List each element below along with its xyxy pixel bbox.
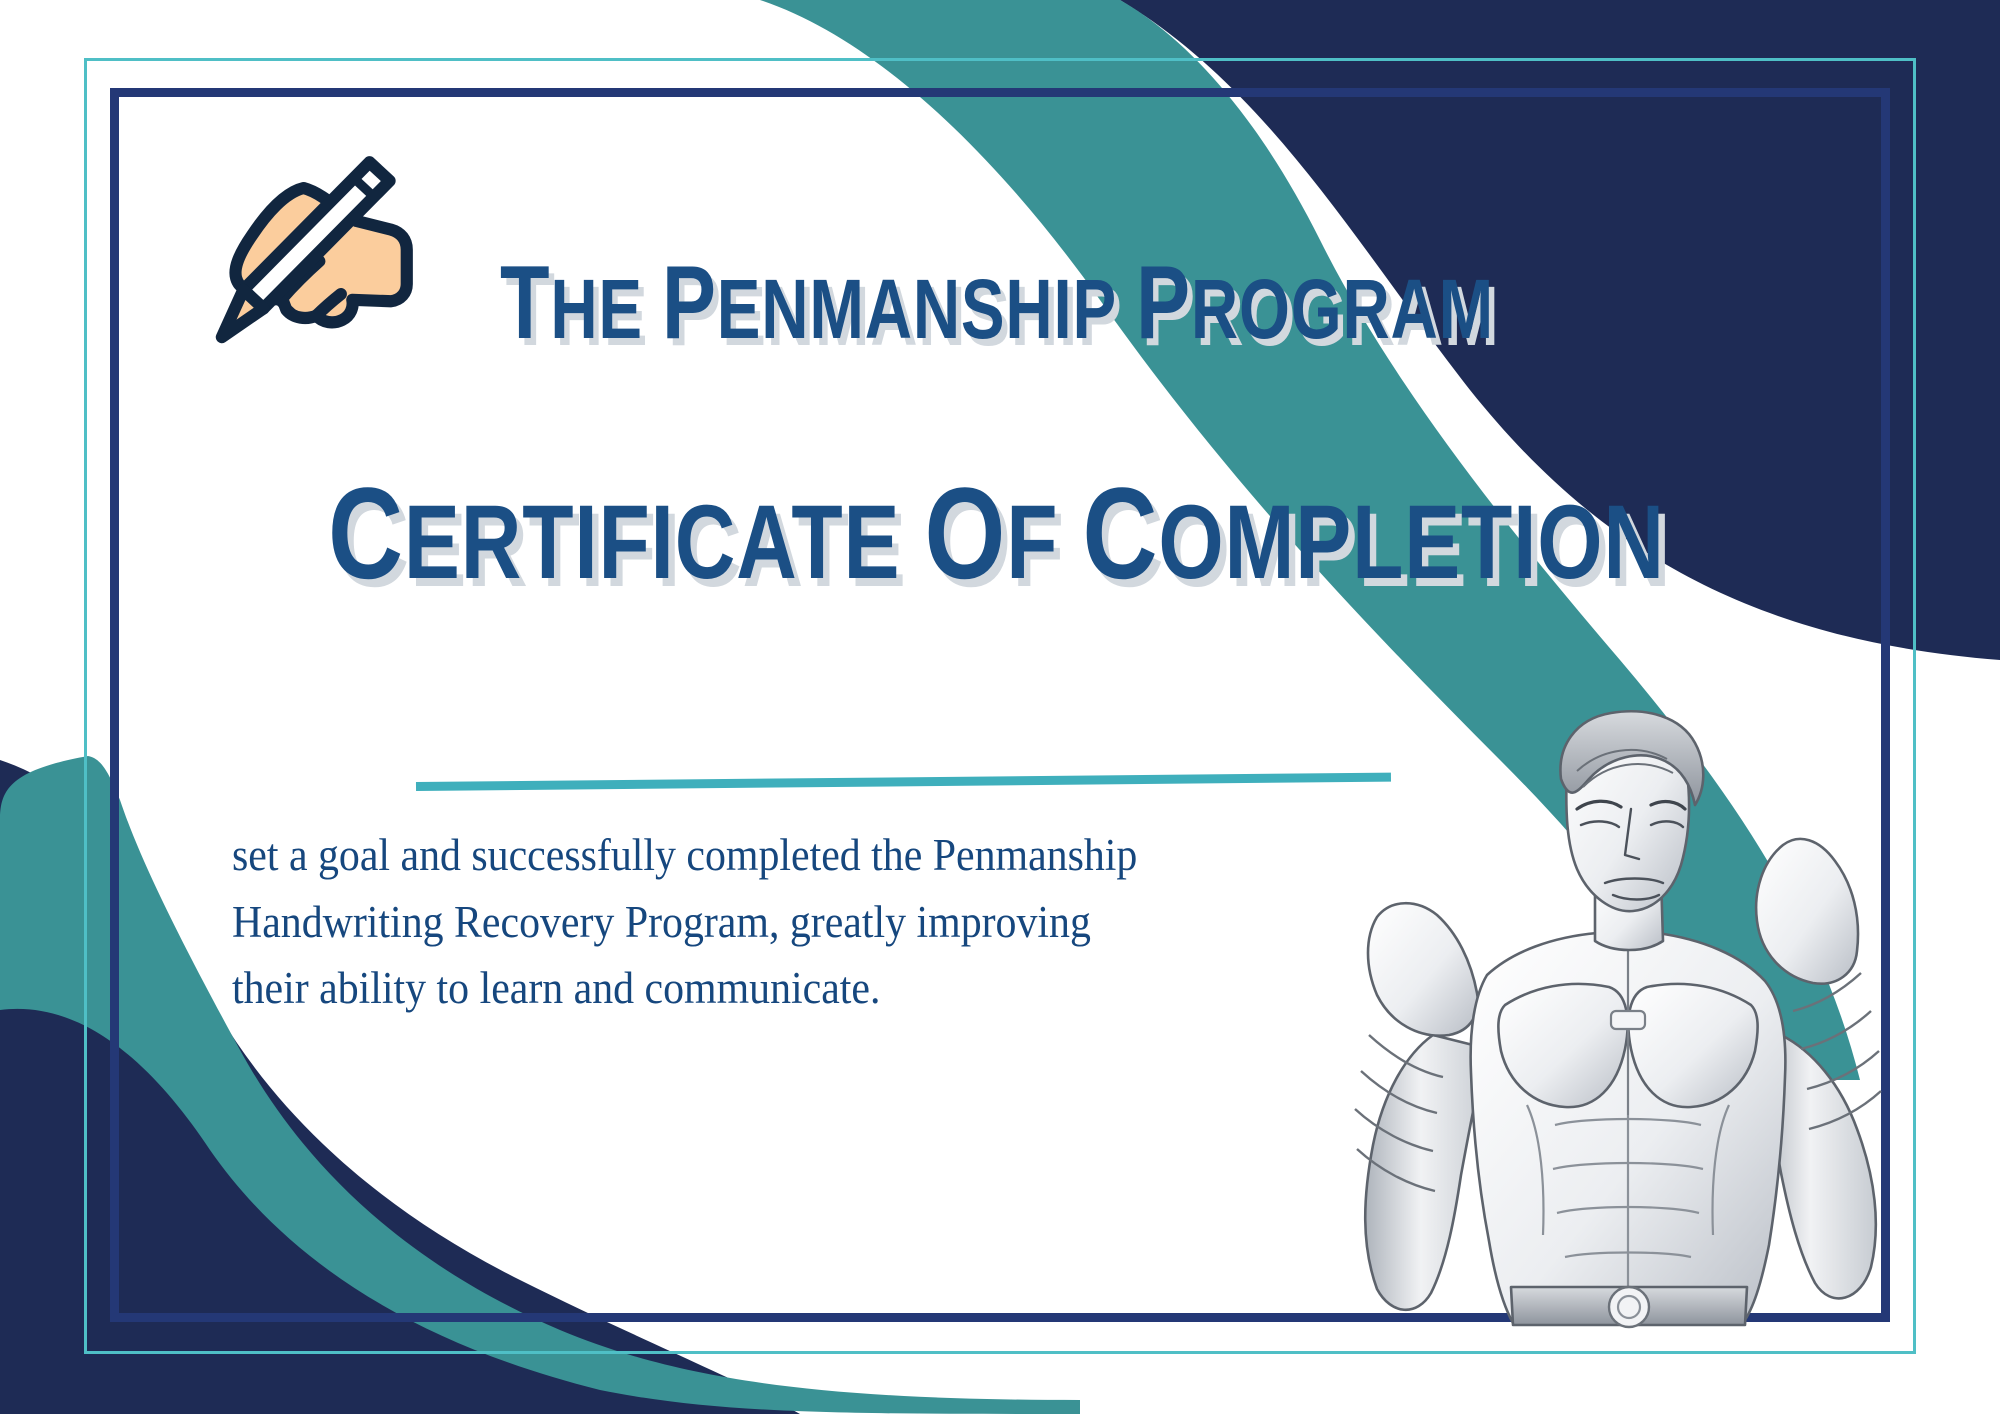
program-title-seg: ENMANSHIP (717, 262, 1117, 356)
body-line: Handwriting Recovery Program, greatly im… (232, 889, 1274, 956)
program-title-seg: ROGRAM (1191, 262, 1494, 356)
page-title: CERTIFICATE OF COMPLETION (328, 468, 1665, 598)
pencil-tip (222, 290, 264, 337)
body-line: set a goal and successfully completed th… (232, 822, 1274, 889)
main-title-seg: F (1006, 484, 1058, 601)
program-title-seg: P (1136, 245, 1191, 361)
main-title-seg: O (924, 460, 1006, 606)
flexing-superhero-sketch (1265, 705, 1965, 1335)
main-title-seg: C (1082, 460, 1158, 606)
hero-left-fist (1368, 903, 1478, 1035)
program-title-seg: T (500, 245, 550, 361)
main-title-seg: OMPLETION (1158, 484, 1665, 601)
program-title-seg: HE (550, 262, 643, 356)
main-title-seg: ERTIFICATE (404, 484, 900, 601)
program-title-seg: P (662, 245, 717, 361)
main-title-seg: C (328, 460, 404, 606)
certificate-canvas: THE PENMANSHIP PROGRAM CERTIFICATE OF CO… (0, 0, 2000, 1414)
body-copy: set a goal and successfully completed th… (232, 822, 1274, 1022)
program-title: THE PENMANSHIP PROGRAM (500, 251, 1494, 355)
hand-writing-pencil-icon (190, 135, 420, 350)
body-line: their ability to learn and communicate. (232, 955, 1274, 1022)
hero-right-fist (1756, 839, 1858, 984)
